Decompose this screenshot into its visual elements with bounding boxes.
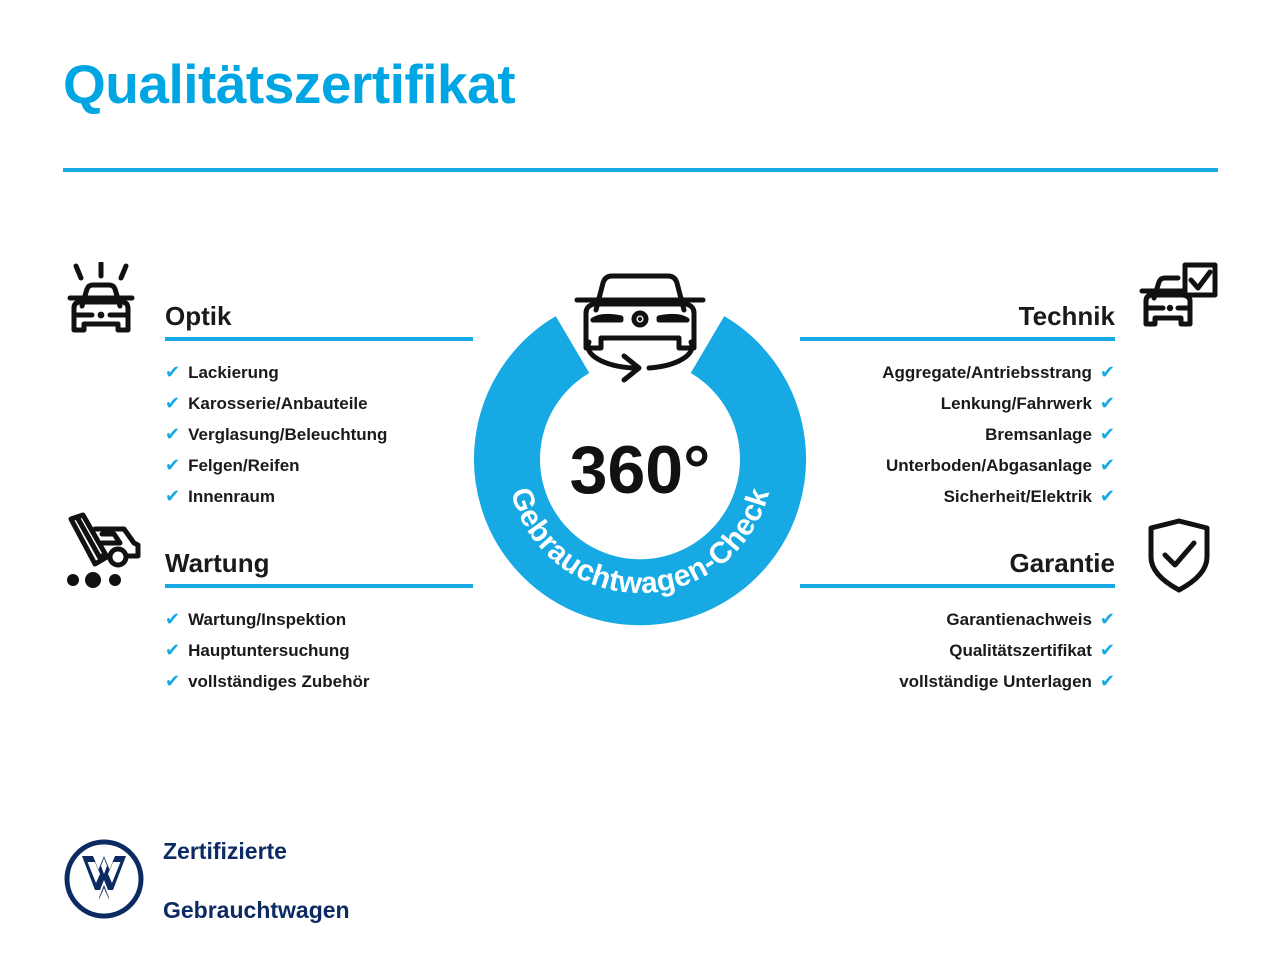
list-item: ✔ Karosserie/Anbauteile <box>165 388 473 419</box>
list-item: Bremsanlage ✔ <box>800 419 1115 450</box>
section-garantie: Garantie Garantienachweis ✔ Qualitätszer… <box>800 542 1115 697</box>
section-title-optik: Optik <box>165 303 231 329</box>
list-item: ✔ Hauptuntersuchung <box>165 635 473 666</box>
badge-360-gebrauchtwagen-check: Gebrauchtwagen-Check 360° <box>465 250 815 640</box>
list-item: Sicherheit/Elektrik ✔ <box>800 481 1115 512</box>
badge-center-text: 360° <box>570 432 711 508</box>
list-item-label: Hauptuntersuchung <box>188 636 350 666</box>
list-item-label: Lenkung/Fahrwerk <box>941 389 1092 419</box>
section-divider <box>165 337 473 341</box>
list-item-label: Unterboden/Abgasanlage <box>886 451 1092 481</box>
checklist-wartung: ✔ Wartung/Inspektion ✔ Hauptuntersuchung… <box>165 604 473 697</box>
car-shine-icon <box>62 262 140 347</box>
footer-text: Zertifizierte Gebrauchtwagen <box>163 808 350 955</box>
section-optik: Optik ✔ Lackierung ✔ Karosserie/Anbautei… <box>165 295 473 512</box>
checklist-technik: Aggregate/Antriebsstrang ✔ Lenkung/Fahrw… <box>800 357 1115 512</box>
section-divider <box>800 584 1115 588</box>
list-item-label: Aggregate/Antriebsstrang <box>882 358 1092 388</box>
check-icon: ✔ <box>165 481 180 511</box>
list-item: ✔ Wartung/Inspektion <box>165 604 473 635</box>
list-item-label: Qualitätszertifikat <box>949 636 1092 666</box>
list-item-label: Garantienachweis <box>946 605 1092 635</box>
list-item: ✔ Innenraum <box>165 481 473 512</box>
list-item-label: Verglasung/Beleuchtung <box>188 420 387 450</box>
section-wartung: Wartung ✔ Wartung/Inspektion ✔ Hauptunte… <box>165 542 473 697</box>
section-header: Wartung <box>165 542 473 588</box>
list-item-label: Sicherheit/Elektrik <box>944 482 1092 512</box>
check-icon: ✔ <box>165 357 180 387</box>
vw-certified-lockup: Zertifizierte Gebrauchtwagen <box>63 808 350 955</box>
list-item: Qualitätszertifikat ✔ <box>800 635 1115 666</box>
check-icon: ✔ <box>165 388 180 418</box>
section-divider <box>800 337 1115 341</box>
footer-line-1: Zertifizierte <box>163 837 350 866</box>
check-icon: ✔ <box>1100 388 1115 418</box>
list-item: Lenkung/Fahrwerk ✔ <box>800 388 1115 419</box>
list-item: Unterboden/Abgasanlage ✔ <box>800 450 1115 481</box>
section-title-technik: Technik <box>1019 303 1115 329</box>
list-item-label: Karosserie/Anbauteile <box>188 389 368 419</box>
check-icon: ✔ <box>1100 357 1115 387</box>
list-item-label: vollständiges Zubehör <box>188 667 369 697</box>
check-icon: ✔ <box>165 450 180 480</box>
footer-line-2: Gebrauchtwagen <box>163 896 350 925</box>
check-icon: ✔ <box>165 666 180 696</box>
check-icon: ✔ <box>165 604 180 634</box>
list-item: Garantienachweis ✔ <box>800 604 1115 635</box>
list-item-label: Bremsanlage <box>985 420 1092 450</box>
check-icon: ✔ <box>165 635 180 665</box>
section-header: Garantie <box>800 542 1115 588</box>
checklist-optik: ✔ Lackierung ✔ Karosserie/Anbauteile ✔ V… <box>165 357 473 512</box>
list-item-label: Felgen/Reifen <box>188 451 299 481</box>
header-divider <box>63 168 1218 172</box>
list-item-label: Wartung/Inspektion <box>188 605 346 635</box>
check-icon: ✔ <box>1100 481 1115 511</box>
section-title-garantie: Garantie <box>1010 550 1116 576</box>
list-item: ✔ vollständiges Zubehör <box>165 666 473 697</box>
check-icon: ✔ <box>1100 666 1115 696</box>
list-item-label: Lackierung <box>188 358 279 388</box>
list-item-label: vollständige Unterlagen <box>899 667 1092 697</box>
list-item-label: Innenraum <box>188 482 275 512</box>
list-item: ✔ Felgen/Reifen <box>165 450 473 481</box>
car-service-pencil-icon <box>62 512 144 595</box>
check-icon: ✔ <box>165 419 180 449</box>
section-divider <box>165 584 473 588</box>
page-title: Qualitätszertifikat <box>63 56 515 114</box>
section-header: Technik <box>800 295 1115 341</box>
checklist-garantie: Garantienachweis ✔ Qualitätszertifikat ✔… <box>800 604 1115 697</box>
section-technik: Technik Aggregate/Antriebsstrang ✔ Lenku… <box>800 295 1115 512</box>
list-item: Aggregate/Antriebsstrang ✔ <box>800 357 1115 388</box>
car-rotate-icon <box>577 276 703 380</box>
check-icon: ✔ <box>1100 604 1115 634</box>
car-checkbox-icon <box>1138 262 1218 347</box>
certificate-page: Qualitätszertifikat <box>0 0 1280 960</box>
check-icon: ✔ <box>1100 635 1115 665</box>
list-item: ✔ Verglasung/Beleuchtung <box>165 419 473 450</box>
check-icon: ✔ <box>1100 419 1115 449</box>
section-header: Optik <box>165 295 473 341</box>
list-item: vollständige Unterlagen ✔ <box>800 666 1115 697</box>
list-item: ✔ Lackierung <box>165 357 473 388</box>
check-icon: ✔ <box>1100 450 1115 480</box>
volkswagen-logo <box>63 838 145 925</box>
shield-check-icon <box>1145 517 1213 600</box>
section-title-wartung: Wartung <box>165 550 269 576</box>
